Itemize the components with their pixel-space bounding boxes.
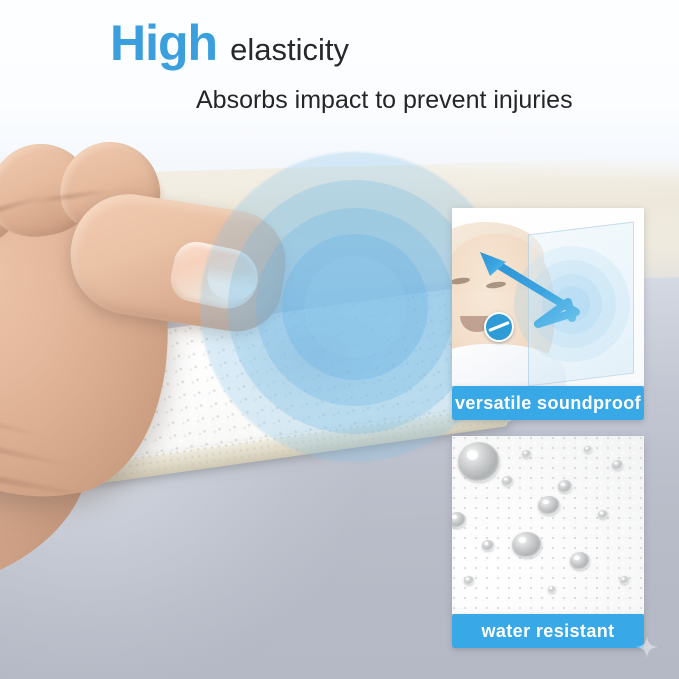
panel-label-water-resistant: water resistant: [452, 614, 644, 648]
sparkle-icon: [635, 635, 659, 659]
feature-panel-soundproof: versatile soundproof: [452, 208, 644, 420]
water-droplet: [584, 446, 592, 453]
feature-panel-water-resistant: water resistant: [452, 436, 644, 648]
water-droplet: [522, 450, 531, 458]
soundproof-illustration: [452, 208, 644, 386]
panel-label-soundproof: versatile soundproof: [452, 386, 644, 420]
no-sound-icon: [484, 312, 514, 342]
no-sound-slash: [488, 321, 510, 332]
water-droplet: [464, 576, 474, 585]
water-droplet: [620, 576, 629, 584]
water-droplet: [482, 540, 494, 551]
water-droplet: [570, 552, 590, 570]
water-droplet: [558, 480, 572, 493]
water-droplet: [612, 460, 623, 470]
water-droplet: [458, 442, 500, 482]
water-droplet: [598, 510, 608, 519]
water-droplet: [512, 532, 542, 558]
infographic-canvas: High elasticity Absorbs impact to preven…: [0, 0, 679, 679]
water-droplet: [502, 476, 513, 486]
water-droplets-photo: [452, 436, 644, 614]
title-rest-word: elasticity: [230, 34, 349, 65]
main-product-photo: [0, 120, 470, 590]
water-droplet: [548, 586, 556, 593]
title-highlight-word: High: [110, 18, 217, 68]
hand: [0, 110, 340, 540]
page-title: High elasticity: [110, 18, 349, 68]
water-droplet: [538, 496, 560, 515]
